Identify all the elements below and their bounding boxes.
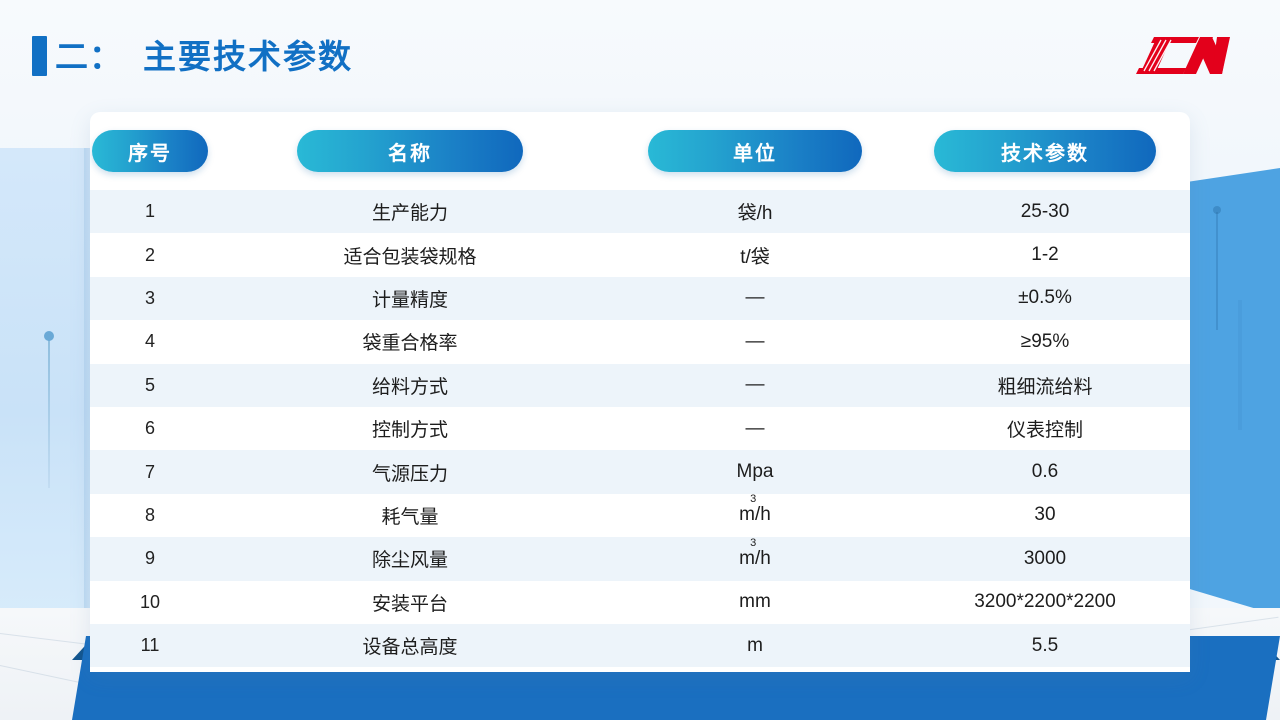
table-header-cell-no: 序号 (90, 130, 210, 172)
section-number: 二： (55, 40, 123, 73)
left-pin-decoration-icon (48, 338, 50, 488)
table-header-cell-name: 名称 (210, 130, 610, 172)
cell-no: 6 (90, 407, 210, 450)
table-row: 10安装平台mm3200*2200*2200 (90, 581, 1190, 624)
spec-table-card: 序号 名称 单位 技术参数 1生产能力袋/h25-302适合包装袋规格t/袋1-… (90, 112, 1190, 672)
cell-no: 2 (90, 233, 210, 276)
unit-text: m/h3 (739, 548, 771, 570)
cell-name: 除尘风量 (210, 537, 610, 580)
table-row: 11设备总高度m5.5 (90, 624, 1190, 667)
cell-unit: t/袋 (610, 233, 900, 276)
table-row: 1生产能力袋/h25-30 (90, 190, 1190, 233)
cell-value: 25-30 (900, 190, 1190, 233)
zn-logo (1124, 25, 1234, 87)
cell-name: 控制方式 (210, 407, 610, 450)
cell-value: 5.5 (900, 624, 1190, 667)
cell-unit: — (610, 364, 900, 407)
cell-unit: — (610, 277, 900, 320)
cell-value: ≥95% (900, 320, 1190, 363)
page-header: 二： 主要技术参数 (0, 0, 1280, 112)
cell-value: ±0.5% (900, 277, 1190, 320)
table-row: 6控制方式—仪表控制 (90, 407, 1190, 450)
table-row: 2适合包装袋规格t/袋1-2 (90, 233, 1190, 276)
cell-name: 给料方式 (210, 364, 610, 407)
cell-name: 安装平台 (210, 581, 610, 624)
cell-no: 11 (90, 624, 210, 667)
cell-value: 仪表控制 (900, 407, 1190, 450)
cell-name: 生产能力 (210, 190, 610, 233)
table-row: 9除尘风量m/h33000 (90, 537, 1190, 580)
right-pin-decoration-icon (1216, 212, 1218, 330)
cell-unit: mm (610, 581, 900, 624)
cell-no: 9 (90, 537, 210, 580)
column-header-label: 技术参数 (934, 130, 1156, 172)
cell-no: 7 (90, 450, 210, 493)
table-header-row: 序号 名称 单位 技术参数 (90, 112, 1190, 190)
cell-name: 适合包装袋规格 (210, 233, 610, 276)
unit-superscript: 3 (750, 537, 756, 549)
cell-value: 30 (900, 494, 1190, 537)
cell-no: 1 (90, 190, 210, 233)
title-accent-bar-icon (32, 36, 47, 76)
cell-unit: m/h3 (610, 494, 900, 537)
table-header-cell-unit: 单位 (610, 130, 900, 172)
cell-name: 设备总高度 (210, 624, 610, 667)
table-body: 1生产能力袋/h25-302适合包装袋规格t/袋1-23计量精度—±0.5%4袋… (90, 190, 1190, 667)
cell-value: 粗细流给料 (900, 364, 1190, 407)
unit-superscript: 3 (750, 493, 756, 505)
cell-no: 10 (90, 581, 210, 624)
column-header-label: 名称 (297, 130, 523, 172)
column-header-label: 单位 (648, 130, 862, 172)
cell-no: 5 (90, 364, 210, 407)
left-wall-panel (0, 148, 92, 628)
cell-name: 耗气量 (210, 494, 610, 537)
cell-unit: m/h3 (610, 537, 900, 580)
cell-name: 计量精度 (210, 277, 610, 320)
page-title-label: 主要技术参数 (143, 40, 353, 73)
column-header-label: 序号 (92, 130, 208, 172)
table-row: 7气源压力Mpa0.6 (90, 450, 1190, 493)
table-row: 4袋重合格率—≥95% (90, 320, 1190, 363)
cell-no: 4 (90, 320, 210, 363)
cell-value: 0.6 (900, 450, 1190, 493)
page-title: 二： 主要技术参数 (32, 36, 353, 76)
cell-value: 3200*2200*2200 (900, 581, 1190, 624)
cell-name: 气源压力 (210, 450, 610, 493)
cell-name: 袋重合格率 (210, 320, 610, 363)
right-wall-seam (1238, 300, 1242, 430)
cell-value: 1-2 (900, 233, 1190, 276)
table-row: 8耗气量m/h330 (90, 494, 1190, 537)
cell-unit: m (610, 624, 900, 667)
cell-no: 3 (90, 277, 210, 320)
cell-unit: 袋/h (610, 190, 900, 233)
table-row: 5给料方式—粗细流给料 (90, 364, 1190, 407)
cell-no: 8 (90, 494, 210, 537)
cell-unit: — (610, 320, 900, 363)
table-row: 3计量精度—±0.5% (90, 277, 1190, 320)
cell-unit: — (610, 407, 900, 450)
cell-value: 3000 (900, 537, 1190, 580)
unit-text: m/h3 (739, 504, 771, 526)
cell-unit: Mpa (610, 450, 900, 493)
table-header-cell-spec: 技术参数 (900, 130, 1190, 172)
